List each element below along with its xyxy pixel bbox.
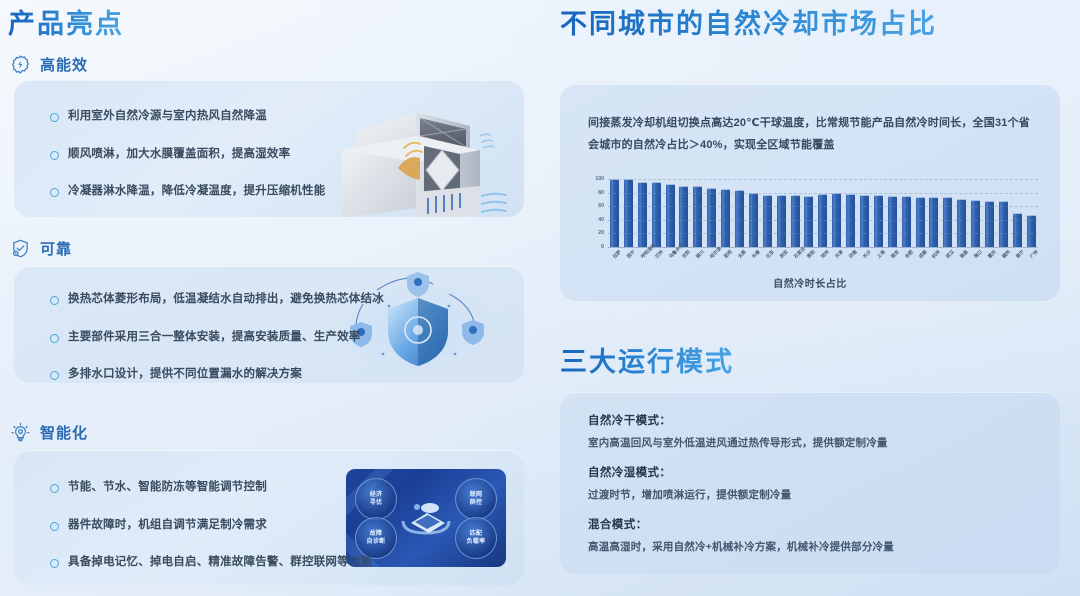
chart-y-tick: 40 (598, 217, 604, 223)
bullet-dot-icon (50, 151, 59, 160)
feature-head-energy: 高能效 (10, 54, 88, 75)
chart-y-tick: 100 (595, 176, 604, 182)
bullet-dot-icon (50, 296, 59, 305)
list-item: 换热芯体菱形布局，低温凝结水自动排出，避免换热芯体结冰 (50, 291, 384, 308)
chart-bar (777, 195, 786, 247)
list-item: 冷凝器淋水降温，降低冷凝温度，提升压缩机性能 (50, 183, 325, 200)
list-item: 器件故障时，机组自调节满足制冷需求 (50, 517, 372, 534)
ahu-unit-illustration (320, 92, 510, 217)
smart-core-device-icon (397, 495, 455, 541)
operation-modes-card: 自然冷干模式： 室内高温回风与室外低温进风通过热传导形式，提供额定制冷量 自然冷… (560, 392, 1060, 574)
feature-card-energy: 利用室外自然冷源与室内热风自然降温 顺风喷淋，加大水膜覆盖面积，提高湿效率 冷凝… (14, 80, 524, 217)
bullet-dot-icon (50, 559, 59, 568)
chart-bar (610, 179, 619, 247)
natural-cooling-bar-chart: 020406080100 拉萨西宁呼和浩特兰州乌鲁木齐沈阳银川哈尔滨昆明太原长春… (586, 179, 1038, 261)
feature-head-smart: 智能化 (10, 422, 88, 443)
chart-bar (985, 201, 994, 247)
chart-bar (707, 188, 716, 247)
feature-label-energy: 高能效 (40, 54, 88, 75)
smart-node-network: 联网 群控 (455, 478, 497, 520)
chart-bar (874, 195, 883, 247)
list-item: 多排水口设计，提供不同位置漏水的解决方案 (50, 366, 384, 383)
modes-section-title: 三大运行模式 (560, 340, 734, 379)
chart-gridline (608, 220, 1038, 221)
chart-bar (735, 190, 744, 247)
bullet-dot-icon (50, 371, 59, 380)
page-title: 产品亮点 (8, 2, 124, 41)
chart-bar (1013, 213, 1022, 247)
chart-bar (860, 195, 869, 247)
chart-bar (791, 195, 800, 247)
chart-y-tick: 60 (598, 203, 604, 209)
energy-badge-icon (10, 54, 31, 75)
chart-description: 间接蒸发冷却机组切换点高达20℃干球温度，比常规节能产品自然冷时间长，全国31个… (588, 112, 1032, 156)
smart-node-load: 匹配 负载率 (455, 517, 497, 559)
chart-bar (721, 189, 730, 247)
bullet-dot-icon (50, 484, 59, 493)
chart-gridline (608, 193, 1038, 194)
list-item: 主要部件采用三合一整体安装，提高安装质量、生产效率 (50, 329, 384, 346)
feature-card-reliable: 换热芯体菱形布局，低温凝结水自动排出，避免换热芯体结冰 主要部件采用三合一整体安… (14, 266, 524, 383)
chart-y-tick: 0 (601, 244, 604, 250)
bullet-list-smart: 节能、节水、智能防冻等智能调节控制 器件故障时，机组自调节满足制冷需求 具备掉电… (50, 479, 372, 571)
chart-y-tick: 20 (598, 230, 604, 236)
list-item: 利用室外自然冷源与室内热风自然降温 (50, 108, 325, 125)
chart-bar (916, 197, 925, 247)
bullet-list-energy: 利用室外自然冷源与室内热风自然降温 顺风喷淋，加大水膜覆盖面积，提高湿效率 冷凝… (50, 108, 325, 200)
chart-bar (624, 179, 633, 247)
chart-card: 间接蒸发冷却机组切换点高达20℃干球温度，比常规节能产品自然冷时间长，全国31个… (560, 84, 1060, 301)
chart-plot-area (608, 179, 1038, 248)
chart-bar (929, 197, 938, 247)
feature-label-smart: 智能化 (40, 422, 88, 443)
right-column: 不同城市的自然冷却市场占比 间接蒸发冷却机组切换点高达20℃干球温度，比常规节能… (540, 0, 1080, 596)
chart-bar (679, 186, 688, 247)
bullet-dot-icon (50, 522, 59, 531)
chart-y-tick: 80 (598, 190, 604, 196)
list-item: 节能、节水、智能防冻等智能调节控制 (50, 479, 372, 496)
bullet-list-reliable: 换热芯体菱形布局，低温凝结水自动排出，避免换热芯体结冰 主要部件采用三合一整体安… (50, 291, 384, 383)
chart-gridline (608, 233, 1038, 234)
list-item: 具备掉电记忆、掉电自启、精准故障告警、群控联网等功能 (50, 554, 372, 571)
chart-gridline (608, 179, 1038, 180)
chart-bar (943, 197, 952, 247)
bullet-dot-icon (50, 188, 59, 197)
chart-bar (999, 201, 1008, 247)
chart-bar (763, 195, 772, 247)
feature-head-reliable: 可靠 (10, 238, 72, 259)
mode-natural-dry: 自然冷干模式： 室内高温回风与室外低温进风通过热传导形式，提供额定制冷量 (588, 412, 1028, 450)
shield-check-icon (10, 238, 31, 259)
chart-bar (804, 196, 813, 247)
feature-card-smart: 经济 寻优 联网 群控 故障 自诊断 匹配 负载率 (14, 450, 524, 585)
smart-bulb-icon (10, 422, 31, 443)
mode-mixed: 混合模式： 高温高湿时，采用自然冷+机械补冷方案，机械补冷提供部分冷量 (588, 516, 1028, 554)
chart-gridline (608, 206, 1038, 207)
bullet-dot-icon (50, 334, 59, 343)
left-column: 产品亮点 高能效 (0, 0, 540, 596)
feature-label-reliable: 可靠 (40, 238, 72, 259)
chart-x-axis-labels: 拉萨西宁呼和浩特兰州乌鲁木齐沈阳银川哈尔滨昆明太原长春北京西安石家庄贵阳郑州天津… (608, 249, 1038, 275)
chart-bars (608, 179, 1038, 247)
mode-natural-wet: 自然冷湿模式： 过渡时节，增加喷淋运行，提供额定制冷量 (588, 464, 1028, 502)
chart-bar (693, 186, 702, 247)
bullet-dot-icon (50, 113, 59, 122)
chart-section-title: 不同城市的自然冷却市场占比 (560, 2, 937, 41)
chart-bar (902, 196, 911, 247)
chart-y-axis: 020406080100 (586, 179, 606, 247)
product-highlights-page: 产品亮点 高能效 (0, 0, 1080, 596)
chart-bar (888, 196, 897, 247)
list-item: 顺风喷淋，加大水膜覆盖面积，提高湿效率 (50, 146, 325, 163)
chart-caption: 自然冷时长占比 (560, 275, 1060, 290)
